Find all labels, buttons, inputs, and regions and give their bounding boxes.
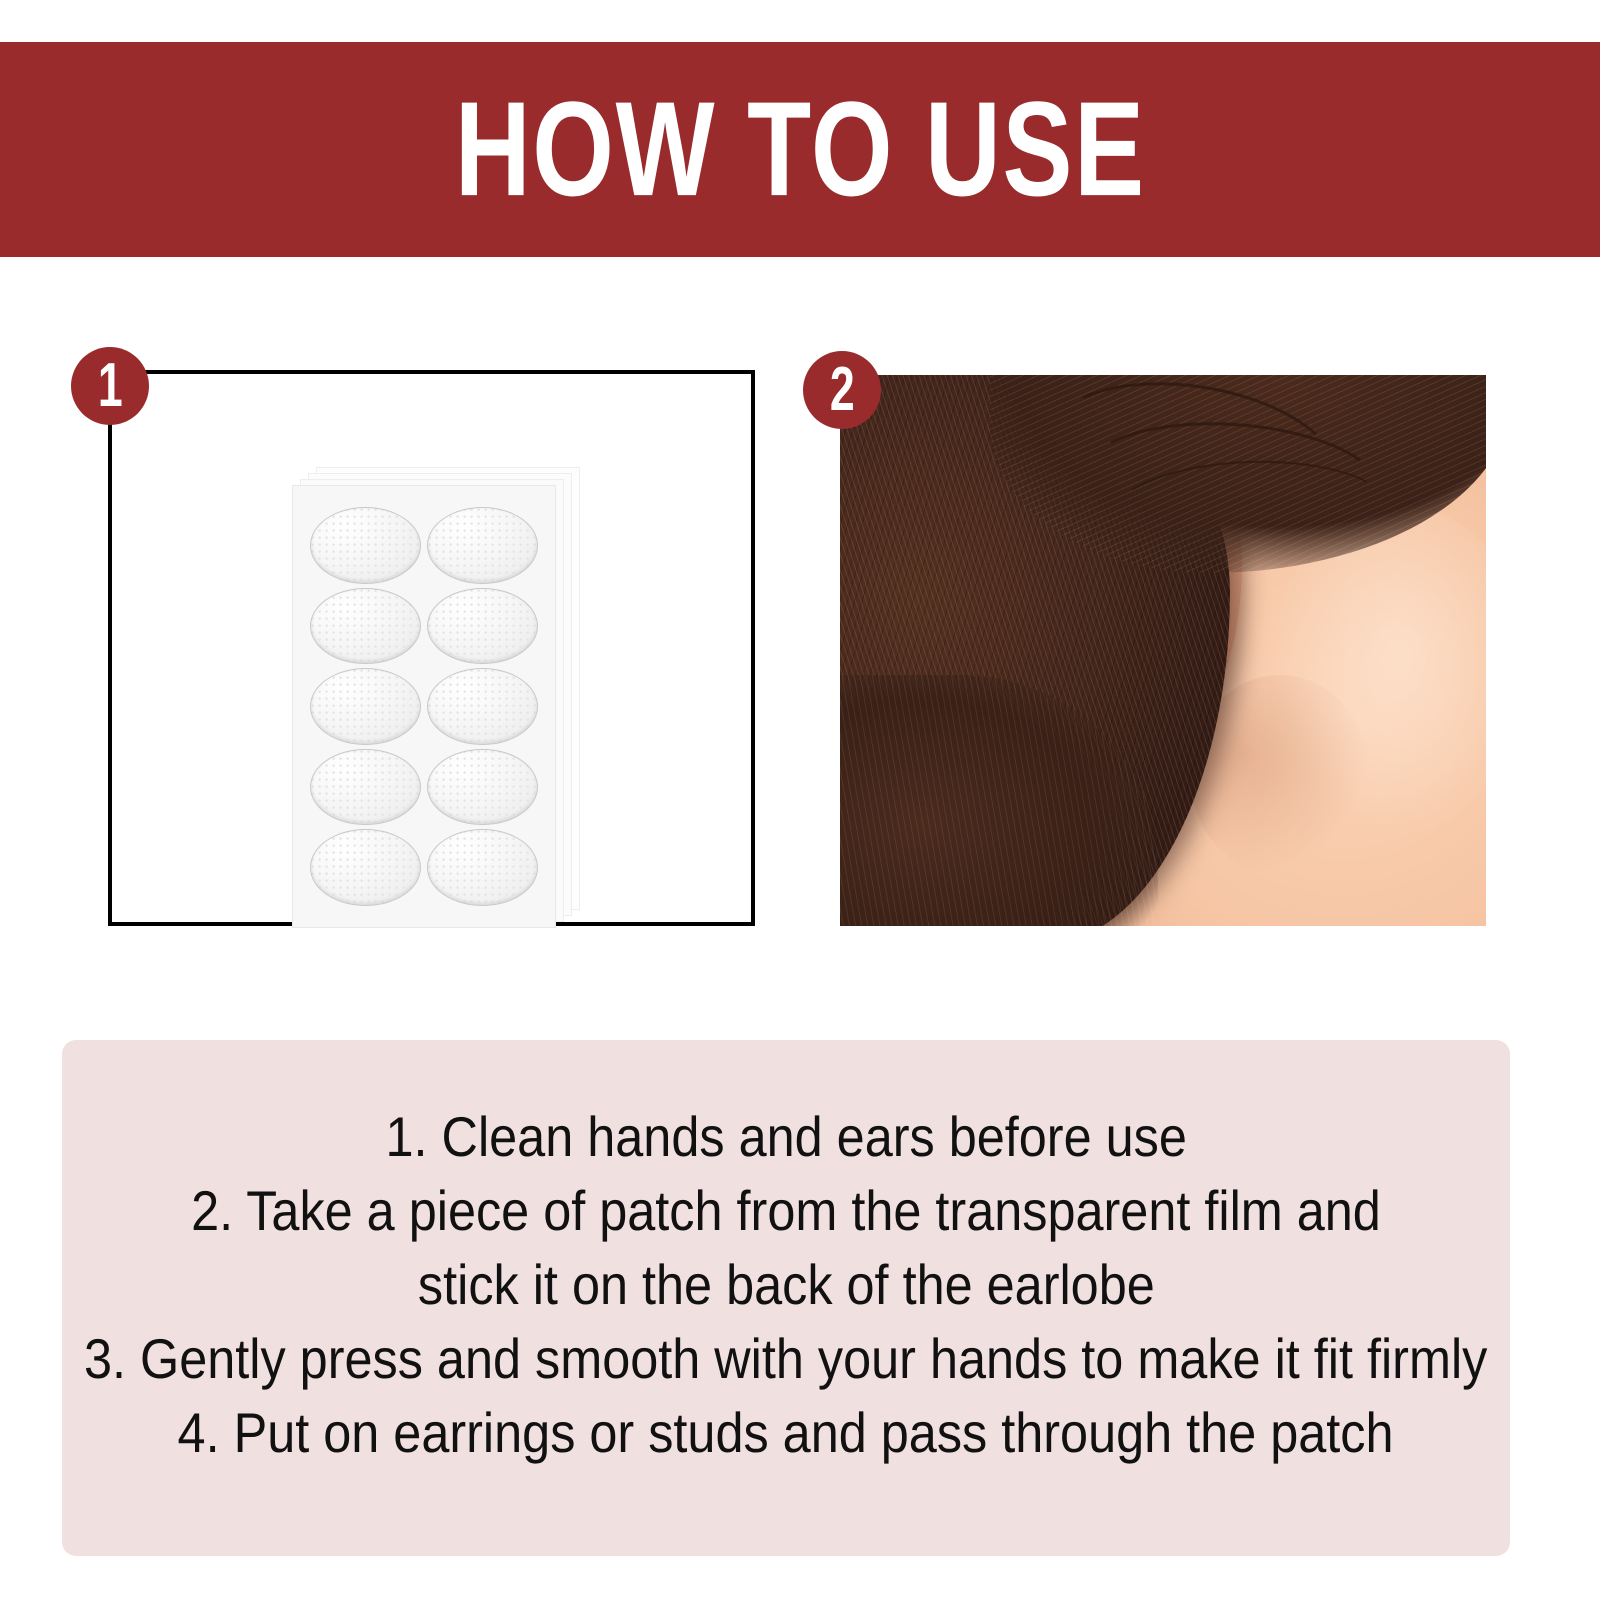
step-1-badge: 1 bbox=[71, 347, 149, 425]
steps-area: 1 2 bbox=[0, 257, 1600, 1017]
step-1-badge-number: 1 bbox=[98, 355, 123, 417]
oval-patch bbox=[427, 668, 538, 745]
patch-sheet-illustration bbox=[292, 467, 582, 937]
step-2-badge-number: 2 bbox=[830, 359, 855, 421]
patch-grid bbox=[292, 485, 556, 928]
instruction-line: 3. Gently press and smooth with your han… bbox=[84, 1322, 1487, 1396]
step-2-panel bbox=[840, 375, 1486, 926]
oval-patch bbox=[310, 749, 421, 826]
instruction-line: 4. Put on earrings or studs and pass thr… bbox=[178, 1396, 1394, 1470]
ear-photo bbox=[840, 375, 1486, 926]
oval-patch bbox=[427, 588, 538, 665]
instructions-panel: 1. Clean hands and ears before use 2. Ta… bbox=[62, 1040, 1510, 1556]
page-title: HOW TO USE bbox=[455, 82, 1146, 216]
oval-patch bbox=[427, 507, 538, 584]
oval-patch bbox=[427, 829, 538, 906]
instruction-line: 1. Clean hands and ears before use bbox=[385, 1100, 1186, 1174]
oval-patch bbox=[310, 668, 421, 745]
header-banner: HOW TO USE bbox=[0, 42, 1600, 257]
oval-patch bbox=[310, 829, 421, 906]
instruction-line: stick it on the back of the earlobe bbox=[418, 1248, 1155, 1322]
step-2-badge: 2 bbox=[803, 351, 881, 429]
step-1-panel bbox=[108, 370, 755, 926]
instruction-line: 2. Take a piece of patch from the transp… bbox=[191, 1174, 1381, 1248]
oval-patch bbox=[427, 749, 538, 826]
oval-patch bbox=[310, 507, 421, 584]
oval-patch bbox=[310, 588, 421, 665]
